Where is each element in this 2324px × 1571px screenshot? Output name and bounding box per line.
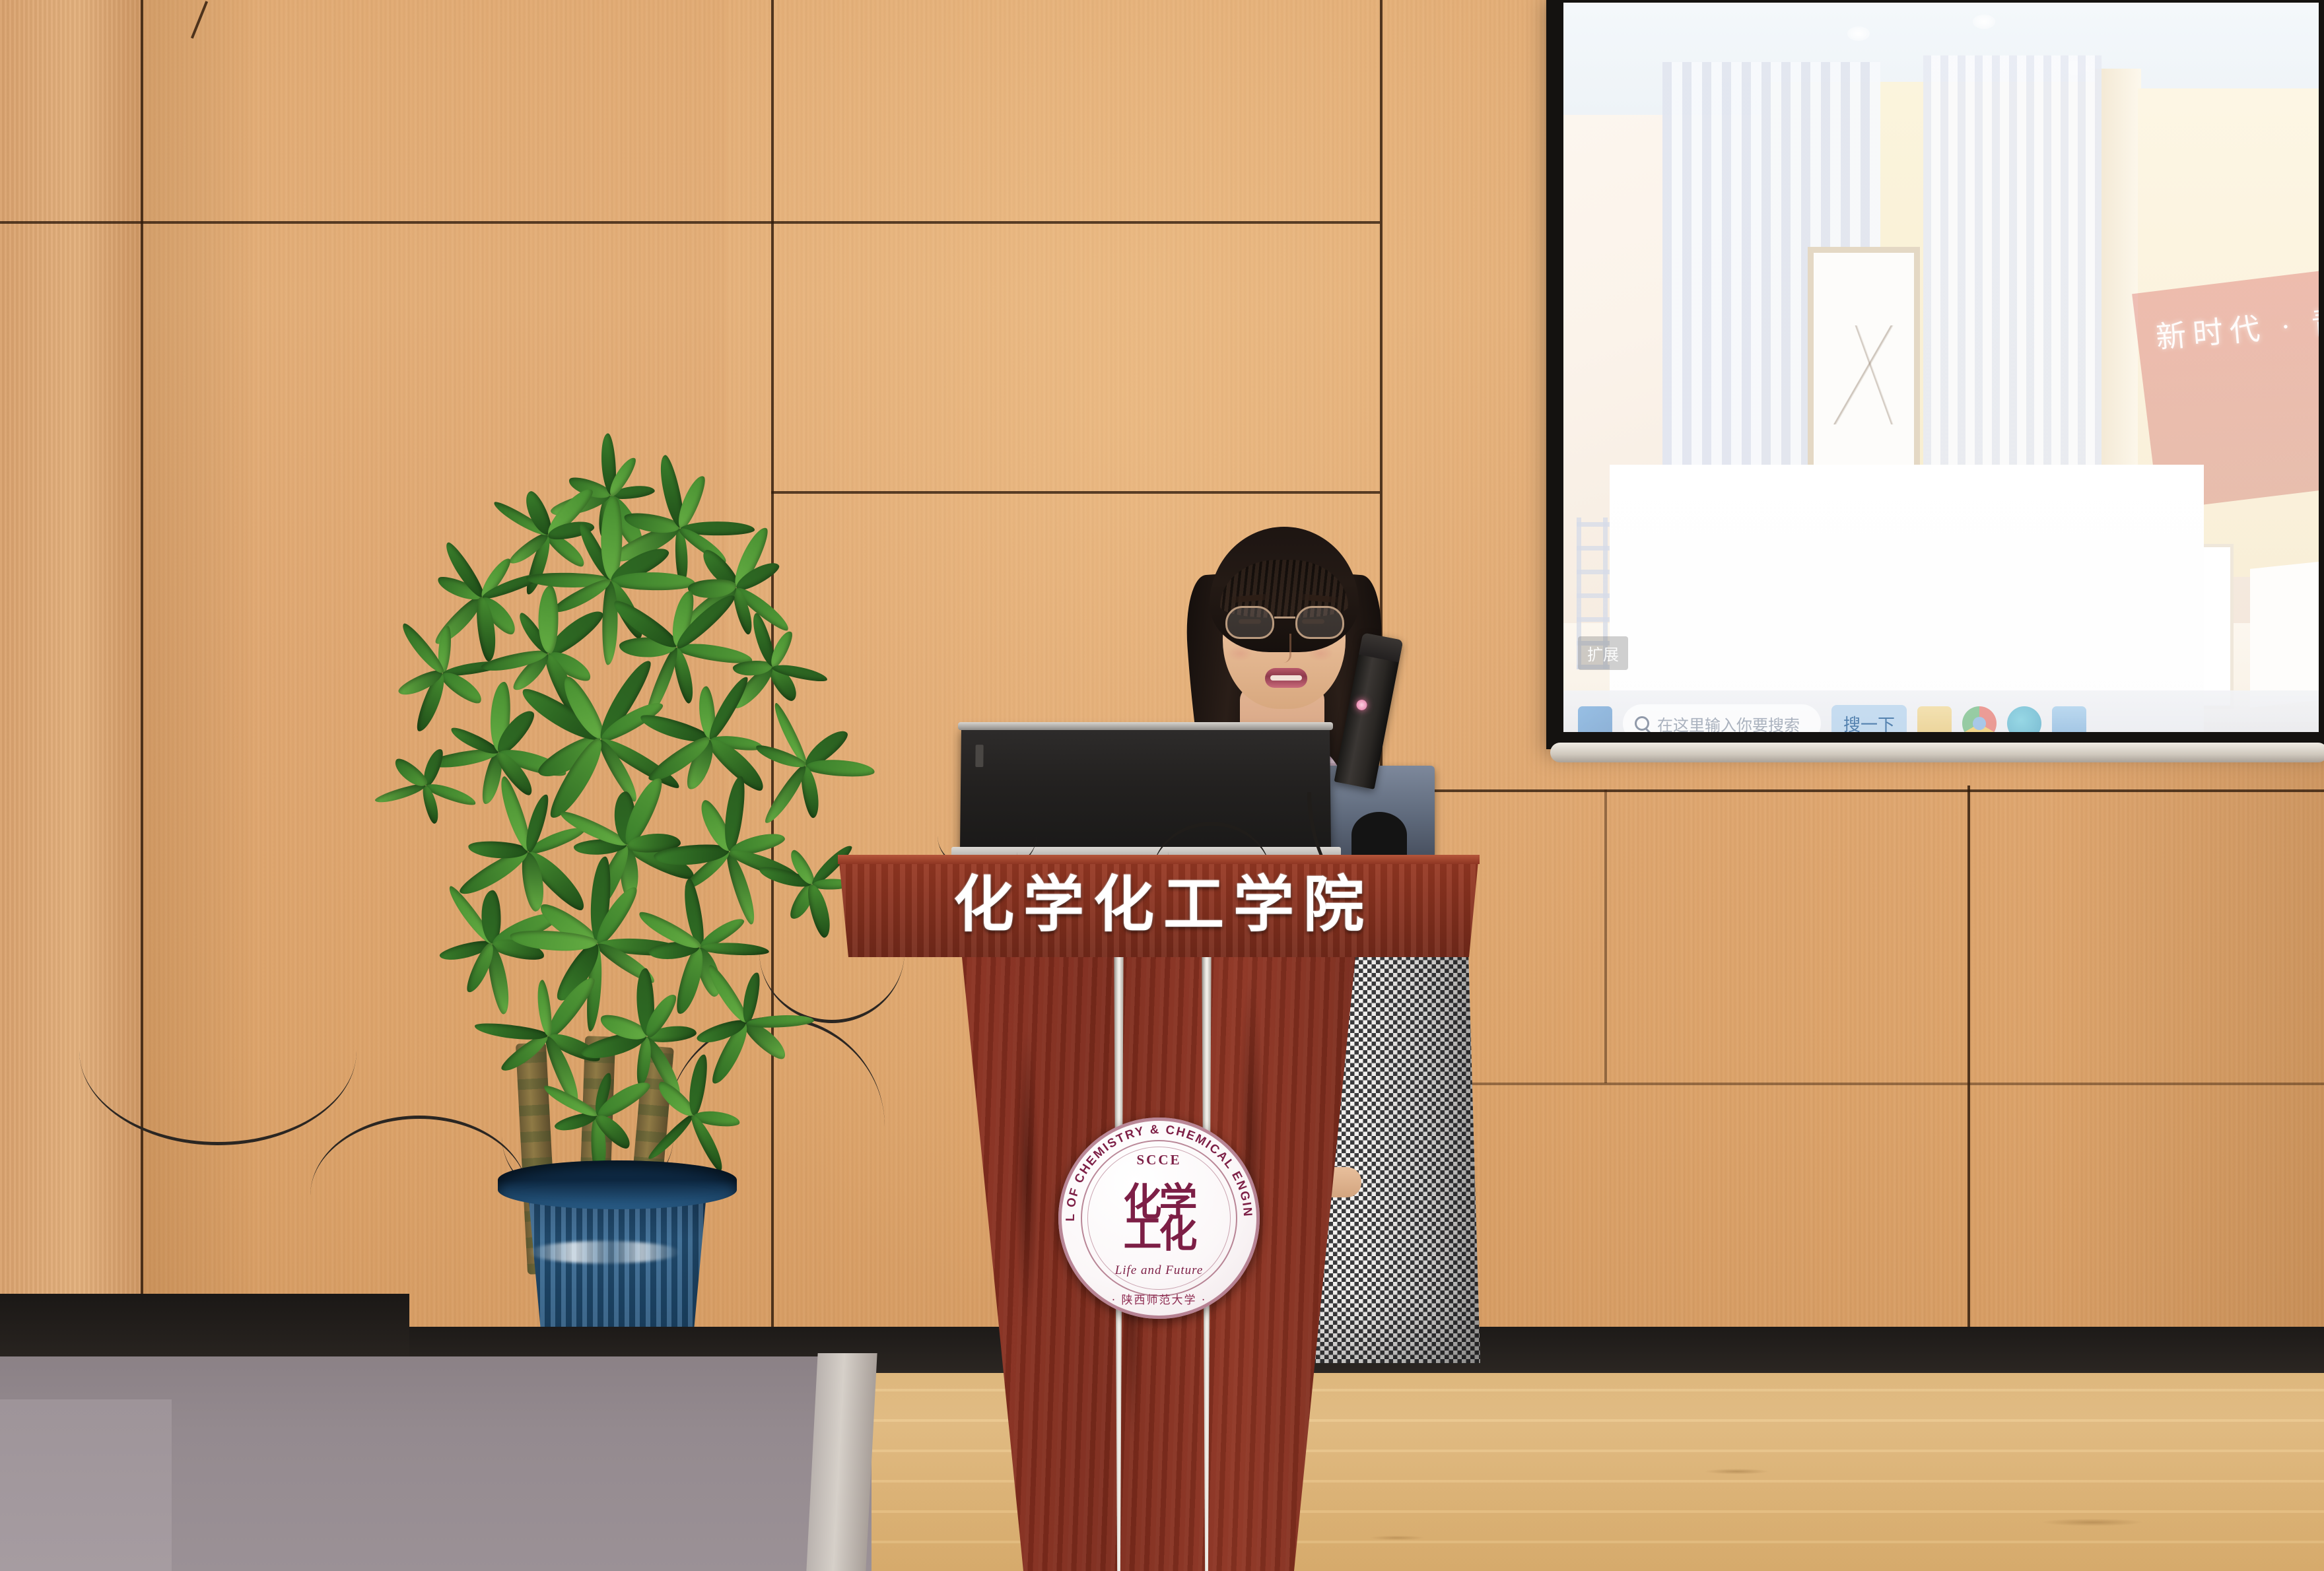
wall-seam-horizontal [1380,789,2324,792]
wall-seam-vertical [1604,789,1607,1083]
search-placeholder: 在这里输入你要搜索 [1657,712,1800,733]
glasses-bridge [1274,617,1295,618]
plant-leaf [805,758,875,778]
edge-icon[interactable] [2007,706,2041,732]
projected-taskbar[interactable]: 在这里输入你要搜索 搜一下 [1563,690,2319,732]
podium-nameplate-text: 化学化工学院 [829,875,1489,935]
wall-pilaster [0,0,142,1327]
video-picture-frame [1808,247,1920,491]
wall-seam-horizontal [1380,1083,2324,1085]
chrome-icon[interactable] [1962,706,1997,732]
plant-leaf [686,1053,710,1117]
lens-right [1295,606,1344,639]
planter-rim [498,1160,737,1209]
stage-platform-step [0,1399,172,1571]
ceiling-light-icon [1847,26,1870,41]
search-input[interactable]: 在这里输入你要搜索 [1623,704,1821,732]
video-banner-text: 新时代 · 青年 [2154,294,2319,357]
search-icon [1635,716,1649,731]
plant-leaf [746,1014,815,1029]
plant-leaf [538,585,559,653]
video-artwork [1833,325,1899,424]
emblem-center-glyph: 化学工化 [1058,1118,1260,1319]
wall-seam-horizontal [0,221,1380,224]
emblem-motto: Life and Future [1058,1263,1260,1278]
lecture-hall-scene: 新时代 · 青年 扩展 在这里输入你要搜索 搜一下 [0,0,2324,1571]
start-icon[interactable] [1578,706,1612,732]
cloud-icon[interactable] [2052,706,2086,732]
school-emblem: SCHOOL OF CHEMISTRY & CHEMICAL ENGINEERI… [1058,1118,1260,1319]
wall-seam-vertical [1967,785,1970,1327]
money-tree-plant [350,455,891,1201]
emblem-university-name: · 陕西师范大学 · [1058,1290,1260,1307]
screen-overlay-badge: 扩展 [1578,636,1628,670]
ceiling-light-icon [1973,15,1995,29]
folder-icon[interactable] [1917,706,1952,732]
podium-nameplate-lip [838,855,1480,864]
planter-highlight [528,1241,680,1263]
laptop-lid-edge [958,722,1333,730]
nose [1276,634,1291,663]
screen-weight-bar[interactable] [1550,743,2324,762]
podium: SCHOOL OF CHEMISTRY & CHEMICAL ENGINEERI… [829,855,1489,1571]
plant-leaf [739,971,762,1024]
mouth [1265,668,1307,688]
video-whiteboard [2250,558,2319,708]
search-pill-button[interactable]: 搜一下 [1831,705,1907,732]
screen-frame: 新时代 · 青年 扩展 在这里输入你要搜索 搜一下 [1546,0,2324,749]
projection-screen[interactable]: 新时代 · 青年 扩展 在这里输入你要搜索 搜一下 [1546,0,2324,771]
plant-leaf [535,980,554,1037]
laptop-logo [975,745,983,767]
screen-surface: 新时代 · 青年 扩展 在这里输入你要搜索 搜一下 [1563,3,2319,732]
baseboard-step [0,1294,409,1366]
lens-left [1225,606,1274,639]
